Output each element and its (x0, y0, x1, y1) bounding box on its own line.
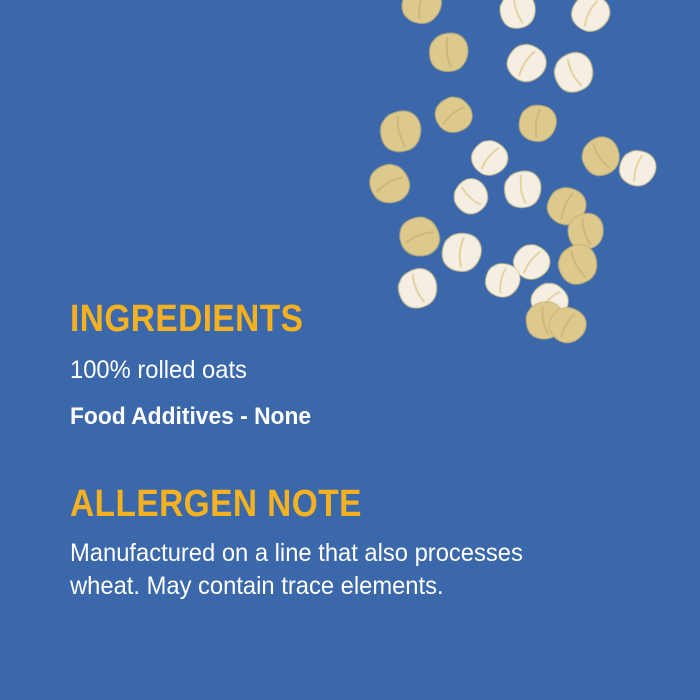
oat-flake-icon (572, 128, 629, 185)
oat-flake-icon (514, 101, 563, 145)
oat-flake-icon (427, 88, 482, 143)
product-label-panel: INGREDIENTS 100% rolled oats Food Additi… (0, 0, 700, 700)
oat-flake-icon (498, 167, 549, 211)
ingredients-heading: INGREDIENTS (70, 300, 598, 338)
allergen-line-2: wheat. May contain trace elements. (70, 570, 640, 604)
ingredients-line-1: 100% rolled oats (70, 354, 640, 386)
oat-flake-icon (480, 258, 526, 302)
food-additives-line: Food Additives - None (70, 402, 640, 433)
oat-flake-icon (445, 170, 497, 222)
ingredients-section: INGREDIENTS 100% rolled oats Food Additi… (70, 300, 670, 433)
oat-flake-icon (613, 143, 663, 193)
oat-flake-icon (564, 0, 619, 40)
oat-flake-icon (498, 34, 556, 92)
oat-flake-icon (562, 207, 611, 255)
oat-flake-icon (393, 209, 448, 265)
oat-flake-icon (549, 236, 607, 292)
label-copy-block: INGREDIENTS 100% rolled oats Food Additi… (70, 300, 670, 604)
allergen-heading: ALLERGEN NOTE (70, 485, 598, 523)
oat-flake-icon (362, 155, 418, 213)
oat-flake-icon (438, 230, 486, 274)
oat-flake-icon (545, 44, 602, 99)
oat-flake-icon (505, 236, 559, 289)
oat-flake-icon (493, 0, 543, 35)
oat-flake-icon (374, 106, 428, 157)
oat-flake-icon (540, 179, 595, 233)
oat-flake-icon (424, 30, 474, 75)
allergen-section: ALLERGEN NOTE Manufactured on a line tha… (70, 485, 670, 605)
oat-flake-icon (396, 0, 447, 28)
allergen-line-1: Manufactured on a line that also process… (70, 537, 640, 571)
oat-flake-icon (463, 131, 517, 184)
